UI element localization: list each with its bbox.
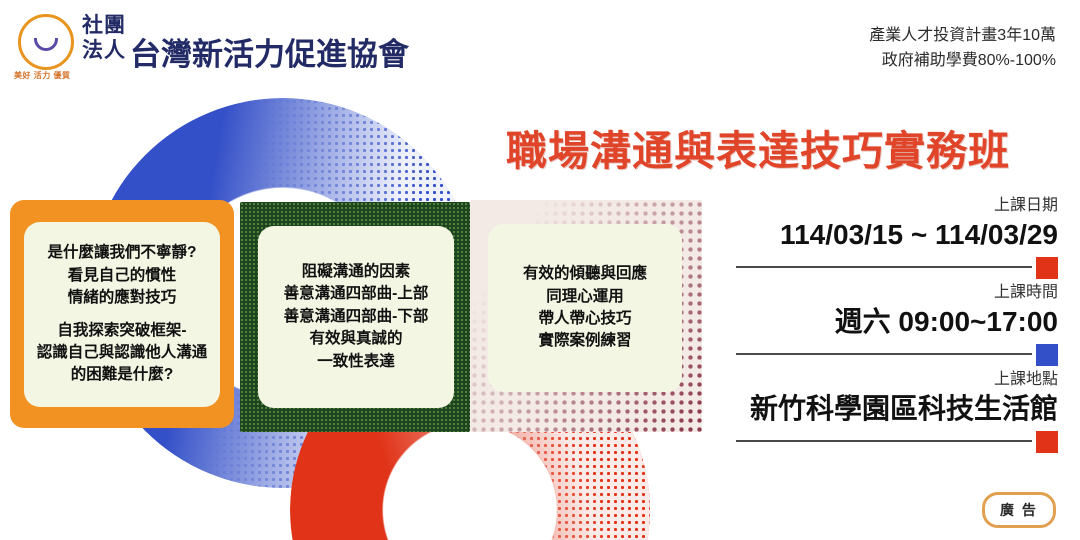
divider-line (736, 440, 1032, 442)
org-prefix-line2: 法人 (82, 40, 126, 61)
org-prefix: 社團 法人 (82, 15, 126, 61)
module-line: 情緒的應對技巧 (68, 287, 177, 309)
marker-square-red (1036, 431, 1058, 453)
info-value-location: 新竹科學園區科技生活館 (718, 391, 1058, 426)
info-row-time: 上課時間 週六 09:00~17:00 (718, 283, 1058, 362)
organization-logo: 美好 活力 優質 社團 法人 台灣新活力促進協會 (14, 12, 409, 78)
info-value-date: 114/03/15 ~ 114/03/29 (718, 217, 1058, 252)
module-card-orange-content: 是什麼讓我們不寧靜? 看見自己的慣性 情緒的應對技巧 自我探索突破框架- 認識自… (24, 222, 220, 407)
org-name: 台灣新活力促進協會 (130, 29, 409, 74)
module-line: 認識自己與認識他人溝通 (37, 342, 208, 364)
module-line: 善意溝通四部曲-上部 (284, 283, 429, 305)
subsidy-line-1: 產業人才投資計畫3年10萬 (869, 24, 1056, 49)
subsidy-line-2: 政府補助學費80%-100% (869, 49, 1056, 74)
info-value-time: 週六 09:00~17:00 (718, 304, 1058, 339)
info-rule-location (718, 431, 1058, 449)
poster-canvas: 美好 活力 優質 社團 法人 台灣新活力促進協會 產業人才投資計畫3年10萬 政… (0, 0, 1080, 540)
info-label-date: 上課日期 (718, 196, 1058, 216)
module-line: 帶人帶心技巧 (538, 308, 631, 330)
info-label-location: 上課地點 (718, 370, 1058, 390)
info-rule-time (718, 344, 1058, 362)
marker-square-red (1036, 257, 1058, 279)
module-line: 有效的傾聽與回應 (523, 263, 647, 285)
info-label-time: 上課時間 (718, 283, 1058, 303)
module-card-green-content: 阻礙溝通的因素 善意溝通四部曲-上部 善意溝通四部曲-下部 有效與真誠的 一致性… (258, 226, 454, 408)
marker-square-blue (1036, 344, 1058, 366)
module-line: 看見自己的慣性 (68, 265, 177, 287)
module-card-orange: 是什麼讓我們不寧靜? 看見自己的慣性 情緒的應對技巧 自我探索突破框架- 認識自… (10, 200, 234, 428)
ad-badge: 廣 告 (982, 492, 1056, 528)
divider-line (736, 353, 1032, 355)
logo-smile-circle-icon: 美好 活力 優質 (14, 12, 80, 78)
info-row-location: 上課地點 新竹科學園區科技生活館 (718, 370, 1058, 449)
module-line: 自我探索突破框架- (57, 320, 186, 342)
module-line: 善意溝通四部曲-下部 (284, 306, 429, 328)
logo-tagline: 美好 活力 優質 (14, 70, 86, 81)
module-line: 同理心運用 (546, 286, 624, 308)
org-prefix-line1: 社團 (82, 15, 126, 36)
module-line: 阻礙溝通的因素 (302, 261, 411, 283)
course-title: 職場溝通與表達技巧實務班 (506, 117, 1010, 177)
module-card-pink: 有效的傾聽與回應 同理心運用 帶人帶心技巧 實際案例練習 (470, 200, 702, 432)
info-row-date: 上課日期 114/03/15 ~ 114/03/29 (718, 196, 1058, 275)
module-line: 的困難是什麼? (71, 364, 173, 386)
subsidy-note: 產業人才投資計畫3年10萬 政府補助學費80%-100% (869, 24, 1056, 74)
module-line: 實際案例練習 (538, 330, 631, 352)
module-card-pink-content: 有效的傾聽與回應 同理心運用 帶人帶心技巧 實際案例練習 (488, 224, 682, 392)
info-rule-date (718, 257, 1058, 275)
module-line: 一致性表達 (317, 351, 395, 373)
module-line: 是什麼讓我們不寧靜? (48, 242, 197, 264)
module-card-green: 阻礙溝通的因素 善意溝通四部曲-上部 善意溝通四部曲-下部 有效與真誠的 一致性… (240, 202, 470, 432)
module-line: 有效與真誠的 (309, 328, 402, 350)
course-info-panel: 上課日期 114/03/15 ~ 114/03/29 上課時間 週六 09:00… (718, 196, 1058, 457)
divider-line (736, 266, 1032, 268)
